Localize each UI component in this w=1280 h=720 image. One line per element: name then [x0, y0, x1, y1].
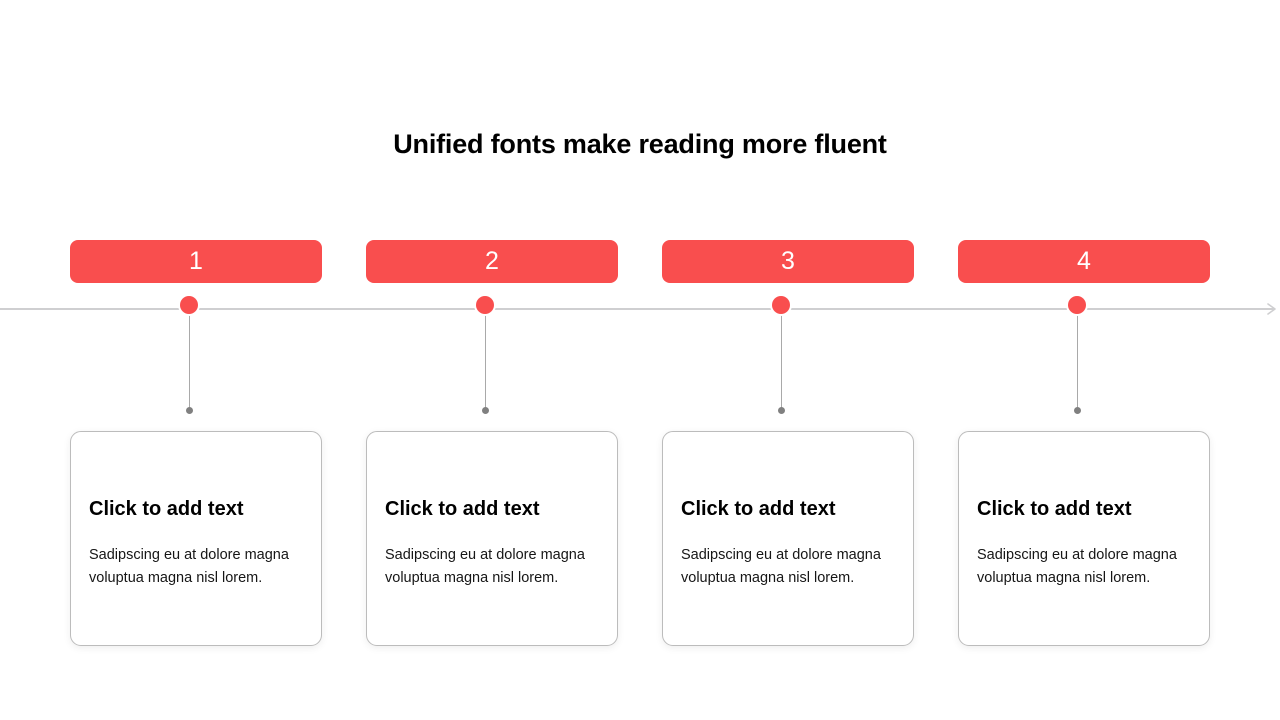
- card-heading-2[interactable]: Click to add text: [385, 496, 601, 522]
- step-number-chip-2[interactable]: 2: [366, 240, 618, 283]
- connector-line-3: [781, 308, 782, 410]
- timeline-step-4: 4 Click to add text Sadipscing eu at dol…: [958, 0, 1210, 720]
- step-connector-3: [662, 296, 914, 421]
- timeline-step-2: 2 Click to add text Sadipscing eu at dol…: [366, 0, 618, 720]
- slide-canvas: { "slide": { "title": "Unified fonts mak…: [0, 0, 1280, 720]
- card-body-1[interactable]: Sadipscing eu at dolore magna voluptua m…: [89, 544, 303, 590]
- card-body-4[interactable]: Sadipscing eu at dolore magna voluptua m…: [977, 544, 1191, 590]
- timeline-node-dot-2[interactable]: [476, 296, 494, 314]
- timeline-step-3: 3 Click to add text Sadipscing eu at dol…: [662, 0, 914, 720]
- step-text-card-3[interactable]: Click to add text Sadipscing eu at dolor…: [662, 431, 914, 646]
- step-text-card-4[interactable]: Click to add text Sadipscing eu at dolor…: [958, 431, 1210, 646]
- connector-line-1: [189, 308, 190, 410]
- connector-endpoint-dot-3: [778, 407, 785, 414]
- step-connector-2: [366, 296, 618, 421]
- step-number-chip-1[interactable]: 1: [70, 240, 322, 283]
- step-connector-1: [70, 296, 322, 421]
- step-text-card-2[interactable]: Click to add text Sadipscing eu at dolor…: [366, 431, 618, 646]
- timeline-steps: 1 Click to add text Sadipscing eu at dol…: [70, 0, 1210, 720]
- timeline-node-dot-4[interactable]: [1068, 296, 1086, 314]
- connector-line-4: [1077, 308, 1078, 410]
- card-body-2[interactable]: Sadipscing eu at dolore magna voluptua m…: [385, 544, 599, 590]
- connector-endpoint-dot-2: [482, 407, 489, 414]
- card-heading-3[interactable]: Click to add text: [681, 496, 897, 522]
- step-text-card-1[interactable]: Click to add text Sadipscing eu at dolor…: [70, 431, 322, 646]
- arrow-right-icon: [1262, 303, 1276, 315]
- connector-endpoint-dot-4: [1074, 407, 1081, 414]
- card-heading-4[interactable]: Click to add text: [977, 496, 1193, 522]
- timeline-node-dot-1[interactable]: [180, 296, 198, 314]
- step-connector-4: [958, 296, 1210, 421]
- card-heading-1[interactable]: Click to add text: [89, 496, 305, 522]
- card-body-3[interactable]: Sadipscing eu at dolore magna voluptua m…: [681, 544, 895, 590]
- step-number-chip-3[interactable]: 3: [662, 240, 914, 283]
- timeline-node-dot-3[interactable]: [772, 296, 790, 314]
- connector-endpoint-dot-1: [186, 407, 193, 414]
- connector-line-2: [485, 308, 486, 410]
- timeline-step-1: 1 Click to add text Sadipscing eu at dol…: [70, 0, 322, 720]
- step-number-chip-4[interactable]: 4: [958, 240, 1210, 283]
